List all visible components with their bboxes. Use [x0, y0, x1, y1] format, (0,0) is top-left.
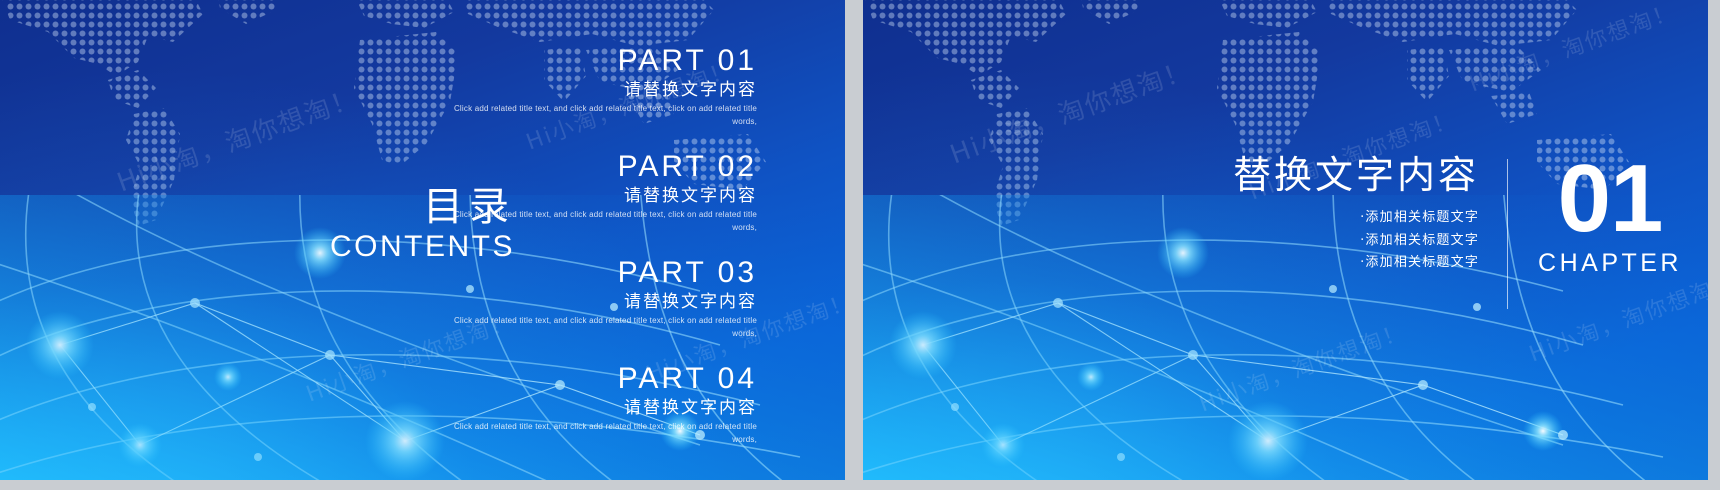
contents-part-list: PART 01 请替换文字内容 Click add related title …: [427, 44, 757, 446]
chapter-bullet-item[interactable]: ·添加相关标题文字: [1233, 207, 1479, 230]
contents-part-item[interactable]: PART 01 请替换文字内容 Click add related title …: [427, 44, 757, 128]
part-title: 请替换文字内容: [427, 290, 757, 315]
part-number: PART 04: [427, 362, 757, 396]
chapter-label: CHAPTER: [1538, 249, 1682, 278]
part-description: Click add related title text, and click …: [427, 103, 757, 128]
watermark: Hi小淘，淘你想淘！: [1194, 314, 1410, 419]
watermark: Hi小淘，淘你想淘！: [944, 50, 1196, 172]
chapter-bullet-item[interactable]: ·添加相关标题文字: [1233, 230, 1479, 253]
chapter-block: 替换文字内容 ·添加相关标题文字 ·添加相关标题文字 ·添加相关标题文字 01 …: [1233, 155, 1682, 309]
chapter-text-column: 替换文字内容 ·添加相关标题文字 ·添加相关标题文字 ·添加相关标题文字: [1233, 155, 1507, 275]
watermark: Hi小淘，淘你想淘！: [1464, 0, 1680, 98]
bottom-divider-bar: [0, 480, 1720, 490]
chapter-bullet-label: 添加相关标题文字: [1365, 233, 1479, 248]
chapter-heading: 替换文字内容: [1233, 155, 1479, 197]
chapter-slide[interactable]: Hi小淘，淘你想淘！ Hi小淘，淘你想淘！ Hi小淘，淘你想淘！ Hi小淘，淘你…: [863, 0, 1708, 480]
chapter-number-column: 01 CHAPTER: [1508, 155, 1682, 278]
slide-deck: Hi小淘，淘你想淘！ Hi小淘，淘你想淘！ Hi小淘，淘你想淘！ Hi小淘，淘你…: [0, 0, 1720, 490]
contents-part-item[interactable]: PART 02 请替换文字内容 Click add related title …: [427, 150, 757, 234]
part-description: Click add related title text, and click …: [427, 209, 757, 234]
chapter-bullet-label: 添加相关标题文字: [1365, 210, 1479, 225]
part-number: PART 03: [427, 256, 757, 290]
chapter-bullet-item[interactable]: ·添加相关标题文字: [1233, 252, 1479, 275]
chapter-bullet-list: ·添加相关标题文字 ·添加相关标题文字 ·添加相关标题文字: [1233, 207, 1479, 275]
part-title: 请替换文字内容: [427, 78, 757, 103]
bullet-marker-icon: ·: [1351, 230, 1365, 253]
part-description: Click add related title text, and click …: [427, 421, 757, 446]
contents-slide[interactable]: Hi小淘，淘你想淘！ Hi小淘，淘你想淘！ Hi小淘，淘你想淘！ Hi小淘，淘你…: [0, 0, 845, 480]
part-number: PART 02: [427, 150, 757, 184]
part-description: Click add related title text, and click …: [427, 315, 757, 340]
bullet-marker-icon: ·: [1351, 252, 1365, 275]
bullet-marker-icon: ·: [1351, 207, 1365, 230]
watermark: Hi小淘，淘你想淘！: [111, 78, 363, 200]
part-number: PART 01: [427, 44, 757, 78]
part-title: 请替换文字内容: [427, 184, 757, 209]
contents-part-item[interactable]: PART 03 请替换文字内容 Click add related title …: [427, 256, 757, 340]
chapter-bullet-label: 添加相关标题文字: [1365, 255, 1479, 270]
part-title: 请替换文字内容: [427, 396, 757, 421]
chapter-number: 01: [1538, 155, 1682, 243]
contents-part-item[interactable]: PART 04 请替换文字内容 Click add related title …: [427, 362, 757, 446]
